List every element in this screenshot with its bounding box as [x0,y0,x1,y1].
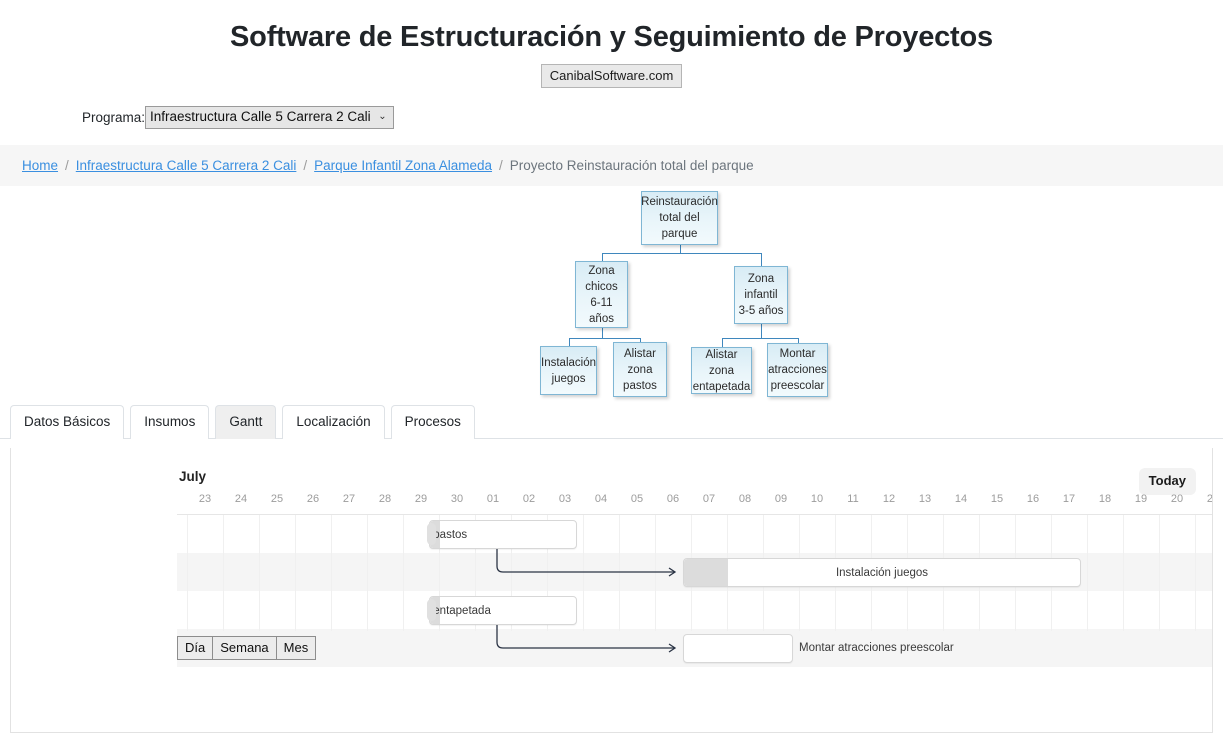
gantt-day-tick: 04 [583,492,619,506]
tree-node-n2b[interactable]: Montar atracciones preescolar [767,343,828,397]
tree-connector [569,338,570,346]
tab-localizaci-n[interactable]: Localización [282,405,384,439]
chevron-down-icon: ⌄ [378,109,386,125]
gantt-day-tick: 10 [799,492,835,506]
tree-connector [722,338,798,339]
tree-node-n1[interactable]: Zona chicos 6-11 años [575,261,628,328]
gantt-day-tick: 15 [979,492,1015,506]
page-title: Software de Estructuración y Seguimiento… [0,20,1223,54]
gantt-day-tick: 14 [943,492,979,506]
tree-node-n1b[interactable]: Alistar zona pastos [613,342,667,397]
gantt-dependency-line [497,625,675,648]
gantt-day-tick: 21 [1195,492,1212,506]
gantt-rows-area: Alistar zona pastosInstalación juegosAli… [177,515,1212,631]
gantt-day-tick: 30 [439,492,475,506]
gantt-day-tick: 12 [871,492,907,506]
gantt-day-tick: 08 [727,492,763,506]
gantt-dependency-layer [177,515,1212,675]
breadcrumb-item-1[interactable]: Home [22,158,58,173]
breadcrumb-separator: / [303,158,307,173]
tree-node-n1a[interactable]: Instalación juegos [540,346,597,395]
gantt-day-tick: 06 [655,492,691,506]
gantt-zoom-d-a[interactable]: Día [177,636,213,660]
tree-connector [761,324,762,338]
programa-selected-value: Infraestructura Calle 5 Carrera 2 Cali [150,109,371,124]
gantt-day-tick: 16 [1015,492,1051,506]
site-badge: CanibalSoftware.com [541,64,683,88]
gantt-day-tick: 24 [223,492,259,506]
tab-gantt[interactable]: Gantt [215,405,276,439]
project-tree: Reinstauración total del parqueZona chic… [0,186,1223,401]
tree-node-label: Alistar zona pastos [617,346,663,394]
tree-connector [761,253,762,266]
gantt-day-tick: 18 [1087,492,1123,506]
gantt-day-tick: 05 [619,492,655,506]
breadcrumb-separator: / [499,158,503,173]
tab-datos-b-sicos[interactable]: Datos Básicos [10,405,124,439]
gantt-day-tick: 26 [295,492,331,506]
tab-insumos[interactable]: Insumos [130,405,209,439]
tab-label: Localización [296,414,370,429]
tree-node-root[interactable]: Reinstauración total del parque [641,191,718,245]
tab-label: Procesos [405,414,461,429]
gantt-zoom-buttons: DíaSemanaMes [177,636,316,660]
gantt-day-tick: 25 [259,492,295,506]
breadcrumb: Home/Infraestructura Calle 5 Carrera 2 C… [0,145,1223,186]
gantt-day-tick: 23 [187,492,223,506]
tab-procesos[interactable]: Procesos [391,405,475,439]
gantt-zoom-semana[interactable]: Semana [212,636,276,660]
gantt-day-tick: 11 [835,492,871,506]
today-button[interactable]: Today [1139,468,1196,495]
gantt-day-tick: 19 [1123,492,1159,506]
gantt-day-tick: 01 [475,492,511,506]
tree-node-n2a[interactable]: Alistar zona entapetada [691,347,752,394]
breadcrumb-item-4: Proyecto Reinstauración total del parque [510,158,754,173]
tree-node-n2[interactable]: Zona infantil 3-5 años [734,266,788,324]
tab-label: Datos Básicos [24,414,110,429]
breadcrumb-item-2[interactable]: Infraestructura Calle 5 Carrera 2 Cali [76,158,297,173]
gantt-day-tick: 27 [331,492,367,506]
programa-label: Programa: [82,110,145,125]
gantt-dependency-line [497,549,675,572]
programa-select[interactable]: Infraestructura Calle 5 Carrera 2 Cali ⌄ [145,106,394,129]
gantt-day-tick: 29 [403,492,439,506]
gantt-zoom-mes[interactable]: Mes [276,636,317,660]
gantt-day-tick: 17 [1051,492,1087,506]
tree-node-label: Reinstauración total del parque [641,194,718,242]
tree-node-label: Zona chicos 6-11 años [579,263,624,327]
tab-bar: Datos BásicosInsumosGanttLocalizaciónPro… [0,403,1223,439]
tree-node-label: Instalación juegos [541,355,596,387]
gantt-day-tick: 20 [1159,492,1195,506]
gantt-day-tick: 13 [907,492,943,506]
gantt-day-tick: 03 [547,492,583,506]
breadcrumb-separator: / [65,158,69,173]
tree-connector [680,245,681,253]
tree-connector [569,338,641,339]
tree-node-label: Zona infantil 3-5 años [738,271,784,319]
tree-connector [602,253,762,254]
gantt-inner: July Today 23242526272829300102030405060… [11,448,1212,732]
programa-row: Programa: Infraestructura Calle 5 Carrer… [0,106,1223,129]
subtitle-container: CanibalSoftware.com [0,64,1223,88]
gantt-day-tick: 28 [367,492,403,506]
tree-connector [602,328,603,338]
gantt-month-label: July [179,469,206,484]
gantt-day-tick: 07 [691,492,727,506]
tree-node-label: Alistar zona entapetada [693,347,751,395]
gantt-day-tick: 09 [763,492,799,506]
tab-label: Insumos [144,414,195,429]
breadcrumb-item-3[interactable]: Parque Infantil Zona Alameda [314,158,492,173]
tree-node-label: Montar atracciones preescolar [768,346,827,394]
gantt-day-tick: 02 [511,492,547,506]
gantt-panel: July Today 23242526272829300102030405060… [10,448,1213,733]
tree-connector [602,253,603,261]
tab-label: Gantt [229,414,262,429]
